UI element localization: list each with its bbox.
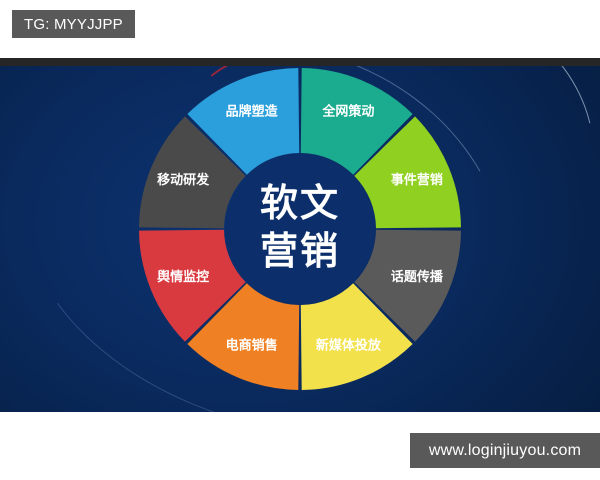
page-root: TG: MYYJJPP 全网策动事件营销话题传播新媒体投放电商销售舆情监控移动研…	[0, 0, 600, 480]
marketing-wheel-chart: 全网策动事件营销话题传播新媒体投放电商销售舆情监控移动研发品牌塑造 软文 营销	[139, 68, 461, 390]
wheel-segment-label-5: 电商销售	[226, 337, 278, 353]
wheel-segment-label-4: 新媒体投放	[316, 337, 382, 353]
wheel-segment-label-6: 舆情监控	[157, 269, 209, 285]
website-watermark-badge: www.loginjiuyou.com	[410, 433, 600, 468]
wheel-segment-label-8: 品牌塑造	[226, 104, 279, 120]
wheel-svg: 全网策动事件营销话题传播新媒体投放电商销售舆情监控移动研发品牌塑造 软文 营销	[139, 68, 461, 390]
infographic-artwork: 全网策动事件营销话题传播新媒体投放电商销售舆情监控移动研发品牌塑造 软文 营销	[0, 66, 600, 412]
wheel-segment-label-3: 话题传播	[391, 269, 444, 285]
wheel-segment-label-1: 全网策动	[321, 104, 374, 120]
wheel-hub-title-line2: 营销	[260, 229, 340, 273]
wheel-segment-label-7: 移动研发	[157, 172, 210, 188]
top-divider-rule	[0, 58, 600, 66]
tg-handle-badge: TG: MYYJJPP	[12, 10, 135, 38]
tg-handle-label: TG: MYYJJPP	[24, 16, 123, 33]
website-watermark-label: www.loginjiuyou.com	[429, 442, 581, 460]
wheel-hub-title-line1: 软文	[260, 181, 340, 225]
wheel-segment-label-2: 事件营销	[391, 172, 443, 188]
